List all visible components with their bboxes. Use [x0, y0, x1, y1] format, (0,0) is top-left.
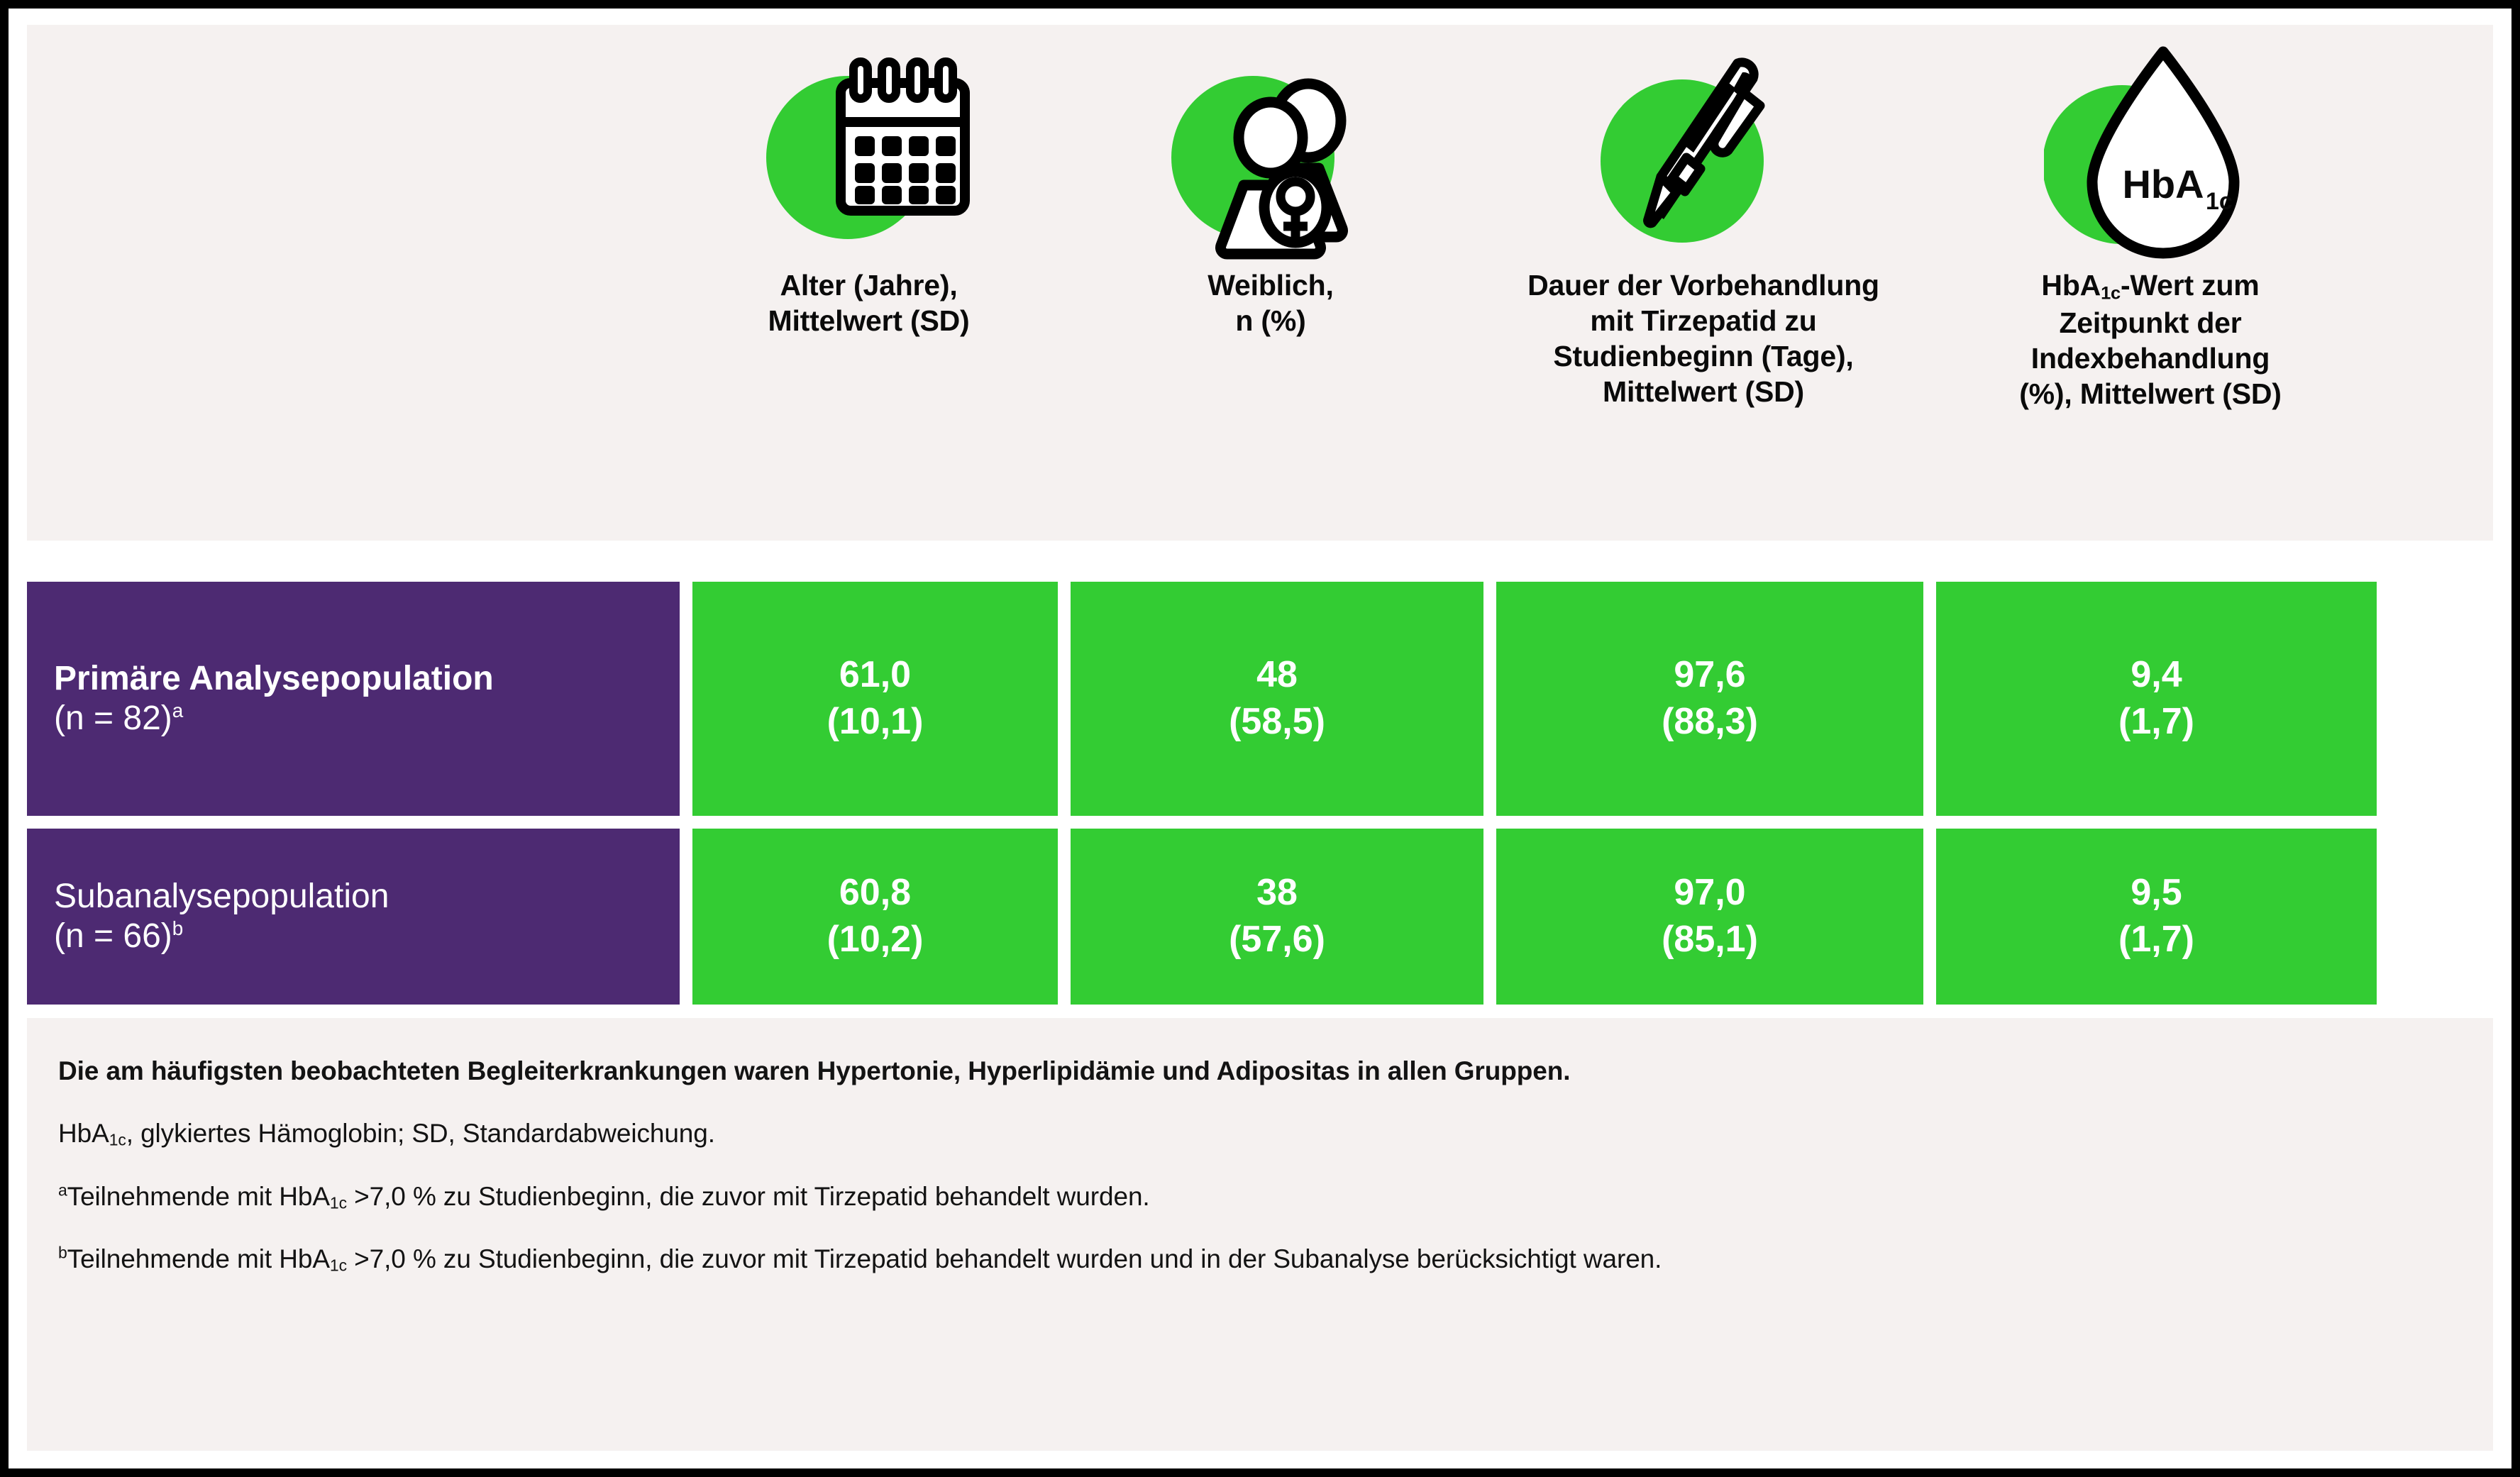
cell-value-primary: 97,6 [1674, 652, 1745, 699]
header-label-age: Alter (Jahre), Mittelwert (SD) [763, 267, 973, 338]
footnote-a-sub: 1c [330, 1193, 347, 1212]
cell-value-secondary: (88,3) [1662, 699, 1758, 746]
row-label-subanalysis-population: Subanalysepopulation (n = 66)b [27, 829, 680, 1005]
cell-value-primary: 61,0 [839, 652, 911, 699]
header-label-hba1c-line1: HbA1c-Wert zum [2019, 267, 2282, 305]
pen-icon [1597, 33, 1810, 267]
row-label-footnote-marker: a [172, 699, 183, 721]
cell-value-secondary: (1,7) [2118, 917, 2194, 963]
footnote-abbr-sub: 1c [109, 1131, 126, 1149]
header-label-hba1c-line2: Zeitpunkt der [2019, 305, 2282, 341]
row-label-main: Primäre Analysepopulation [54, 659, 680, 699]
hba1c-pre: HbA [2041, 269, 2101, 302]
row-label-n: (n = 82)a [54, 699, 680, 738]
header-label-pretreatment-line1: Dauer der Vorbehandlung [1527, 267, 1879, 303]
header-label-hba1c-line3: Indexbehandlung [2019, 341, 2282, 376]
cell-value-primary: 38 [1256, 870, 1298, 917]
table-row: Subanalysepopulation (n = 66)b 60,8 (10,… [27, 829, 2493, 1005]
cell-pretreatment-primary: 97,6 (88,3) [1496, 582, 1923, 816]
header-label-female-line2: n (%) [1207, 303, 1333, 338]
blood-drop-hba1c-icon: HbA 1c [2044, 33, 2257, 267]
cell-value-primary: 9,5 [2131, 870, 2182, 917]
cell-female-subanalysis: 38 (57,6) [1071, 829, 1483, 1005]
header-label-hba1c-line4: (%), Mittelwert (SD) [2019, 376, 2282, 411]
cell-age-primary: 61,0 (10,1) [692, 582, 1058, 816]
blood-drop-label-main: HbA [2122, 162, 2204, 206]
blood-drop-label-sub: 1c [2206, 188, 2233, 215]
cell-value-secondary: (85,1) [1662, 917, 1758, 963]
cell-value-secondary: (57,6) [1229, 917, 1325, 963]
cell-value-primary: 97,0 [1674, 870, 1745, 917]
header-label-pretreatment-line3: Studienbeginn (Tage), [1527, 338, 1879, 374]
footnote-abbreviations: HbA1c, glykiertes Hämoglobin; SD, Standa… [58, 1117, 2462, 1150]
cell-hba1c-subanalysis: 9,5 (1,7) [1936, 829, 2377, 1005]
footnote-abbr-post: , glykiertes Hämoglobin; SD, Standardabw… [126, 1119, 715, 1148]
header-corner-spacer [27, 25, 680, 541]
cell-pretreatment-subanalysis: 97,0 (85,1) [1496, 829, 1923, 1005]
footnote-comorbidities: Die am häufigsten beobachteten Begleiter… [58, 1055, 2462, 1088]
cell-value-secondary: (1,7) [2118, 699, 2194, 746]
header-column-age: Alter (Jahre), Mittelwert (SD) [680, 25, 1058, 541]
header-column-pretreatment: Dauer der Vorbehandlung mit Tirzepatid z… [1483, 25, 1923, 541]
footnote-a: aTeilnehmende mit HbA1c >7,0 % zu Studie… [58, 1180, 2462, 1213]
cell-value-primary: 9,4 [2131, 652, 2182, 699]
hba1c-post: -Wert zum [2121, 269, 2260, 302]
cell-value-secondary: (58,5) [1229, 699, 1325, 746]
footnote-b: bTeilnehmende mit HbA1c >7,0 % zu Studie… [58, 1243, 2462, 1276]
slide-frame: Alter (Jahre), Mittelwert (SD) [9, 9, 2511, 1468]
header-label-pretreatment: Dauer der Vorbehandlung mit Tirzepatid z… [1523, 267, 1884, 409]
footnote-a-post: >7,0 % zu Studienbeginn, die zuvor mit T… [347, 1182, 1150, 1211]
row-label-primary-population: Primäre Analysepopulation (n = 82)a [27, 582, 680, 816]
header-label-hba1c: HbA1c-Wert zum Zeitpunkt der Indexbehand… [2015, 267, 2286, 411]
row-label-n: (n = 66)b [54, 917, 680, 956]
header-column-hba1c: HbA 1c HbA1c-Wert zum Zeitpunkt der Inde… [1923, 25, 2377, 541]
cell-female-primary: 48 (58,5) [1071, 582, 1483, 816]
header-label-female-line1: Weiblich, [1207, 267, 1333, 303]
row-label-footnote-marker: b [172, 917, 183, 939]
cell-value-primary: 48 [1256, 652, 1298, 699]
header-label-pretreatment-line2: mit Tirzepatid zu [1527, 303, 1879, 338]
female-patients-icon [1164, 33, 1377, 267]
header-label-female: Weiblich, n (%) [1203, 267, 1337, 338]
footnote-abbr-pre: HbA [58, 1119, 109, 1148]
footnote-a-pre: Teilnehmende mit HbA [67, 1182, 330, 1211]
header-band: Alter (Jahre), Mittelwert (SD) [27, 25, 2493, 541]
footnote-b-sub: 1c [330, 1256, 347, 1274]
footnotes-block: Die am häufigsten beobachteten Begleiter… [27, 1018, 2493, 1451]
header-column-female: Weiblich, n (%) [1058, 25, 1483, 541]
table-row: Primäre Analysepopulation (n = 82)a 61,0… [27, 582, 2493, 816]
hba1c-sub: 1c [2101, 284, 2121, 304]
footnote-b-post: >7,0 % zu Studienbeginn, die zuvor mit T… [347, 1244, 1662, 1273]
cell-value-secondary: (10,2) [827, 917, 924, 963]
cell-value-secondary: (10,1) [827, 699, 924, 746]
row-label-n-value: (n = 66) [54, 917, 172, 955]
cell-hba1c-primary: 9,4 (1,7) [1936, 582, 2377, 816]
cell-age-subanalysis: 60,8 (10,2) [692, 829, 1058, 1005]
footnote-b-marker: b [58, 1243, 67, 1261]
cell-value-primary: 60,8 [839, 870, 911, 917]
header-label-pretreatment-line4: Mittelwert (SD) [1527, 374, 1879, 409]
row-label-n-value: (n = 82) [54, 699, 172, 737]
footnote-b-pre: Teilnehmende mit HbA [67, 1244, 330, 1273]
calendar-icon [763, 33, 976, 267]
footnote-a-marker: a [58, 1180, 67, 1199]
header-label-age-line2: Mittelwert (SD) [768, 303, 969, 338]
header-label-age-line1: Alter (Jahre), [768, 267, 969, 303]
row-label-main: Subanalysepopulation [54, 877, 680, 917]
